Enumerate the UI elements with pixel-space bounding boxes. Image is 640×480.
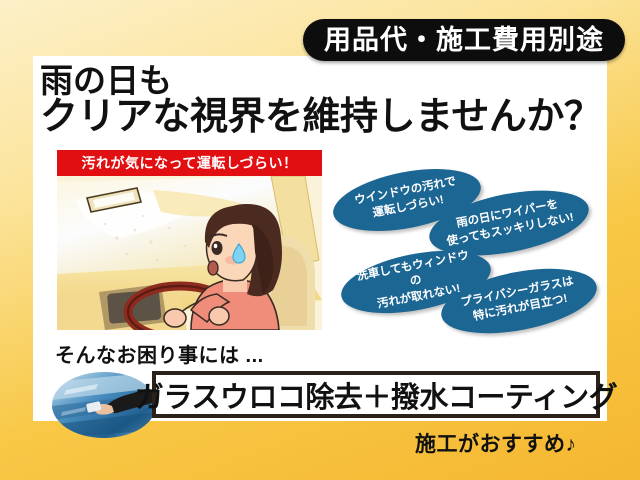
problem-banner-label: 汚れが気になって運転しづらい！ [82, 153, 298, 173]
problem-banner: 汚れが気になって運転しづらい！ [57, 150, 322, 176]
page-title: 雨の日も クリアな視界を維持しませんか？ [40, 64, 615, 138]
pricing-note-badge: 用品代・施工費用別途 [303, 19, 625, 61]
product-name-box: ガラスウロコ除去＋撥水コーティング [152, 371, 600, 418]
product-name-label: ガラスウロコ除去＋撥水コーティング [135, 374, 617, 416]
headline-line-2: クリアな視界を維持しませんか？ [40, 98, 615, 138]
recommendation-text: 施工がおすすめ♪ [415, 428, 577, 458]
pricing-note-badge-label: 用品代・施工費用別途 [324, 27, 604, 54]
headline-line-1: 雨の日も [40, 64, 615, 98]
advertisement-poster: 用品代・施工費用別途 雨の日も クリアな視界を維持しませんか？ 汚れが気になって… [0, 0, 640, 480]
woman-driving-dirty-windshield-illustration [57, 176, 322, 330]
solution-lead-text: そんなお困り事には ... [55, 339, 264, 368]
problem-illustration-panel: 汚れが気になって運転しづらい！ [57, 150, 322, 330]
